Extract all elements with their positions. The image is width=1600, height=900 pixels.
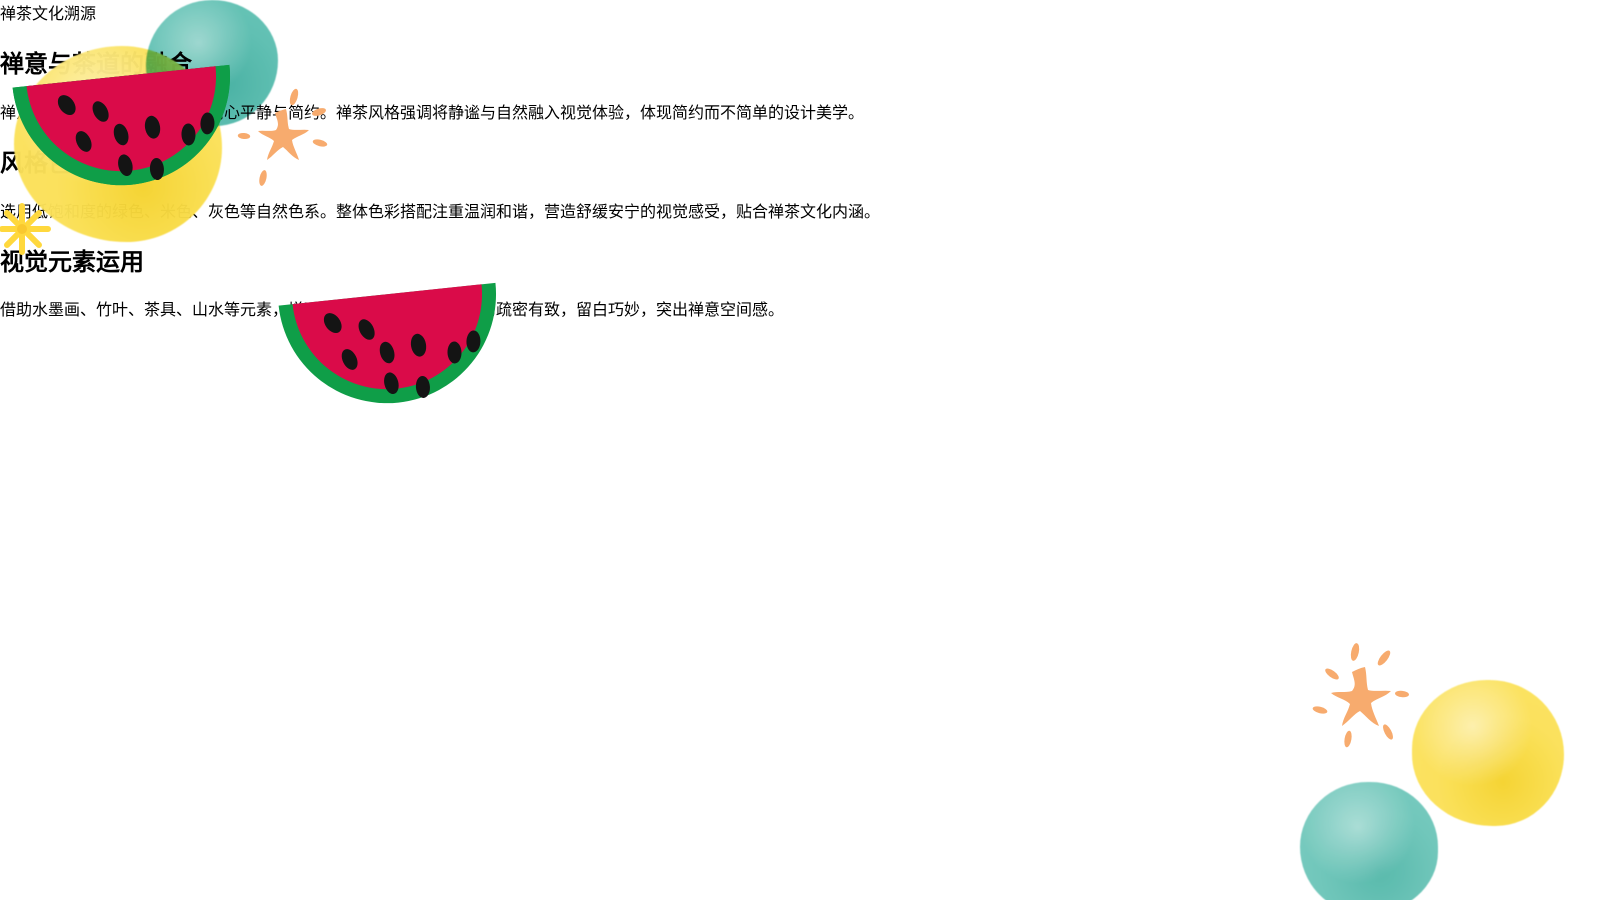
column-body: 选用低饱和度的绿色、米色、灰色等自然色系。整体色彩搭配注重温润和谐，营造舒缓安宁…: [0, 198, 1600, 222]
slide-canvas: 禅茶文化溯源: [0, 0, 1600, 900]
teal-watercolor-blob-bottom-right-icon: [1300, 782, 1438, 900]
content-column-3: 视觉元素运用 借助水墨画、竹叶、茶具、山水等元素，增强传统文化氛围。元素布局疏密…: [0, 242, 1600, 321]
yellow-watercolor-blob-bottom-right-icon: [1412, 680, 1564, 826]
content-column-1: 禅意与茶道的融合 禅意和茶道本源相通，皆追求内心平静与简约。禅茶风格强调将静谧与…: [0, 44, 1600, 123]
content-column-2: 风格色彩选择 选用低饱和度的绿色、米色、灰色等自然色系。整体色彩搭配注重温润和谐…: [0, 143, 1600, 222]
column-body: 禅意和茶道本源相通，皆追求内心平静与简约。禅茶风格强调将静谧与自然融入视觉体验，…: [0, 99, 1600, 123]
column-heading: 风格色彩选择: [0, 143, 1600, 178]
orange-sparkle-bottom-right-icon: [1302, 638, 1412, 748]
column-heading: 禅意与茶道的融合: [0, 44, 1600, 79]
page-title: 禅茶文化溯源: [0, 0, 1600, 24]
column-heading: 视觉元素运用: [0, 242, 1600, 277]
column-body: 借助水墨画、竹叶、茶具、山水等元素，增强传统文化氛围。元素布局疏密有致，留白巧妙…: [0, 296, 1600, 320]
content-columns: 禅意与茶道的融合 禅意和茶道本源相通，皆追求内心平静与简约。禅茶风格强调将静谧与…: [0, 44, 1600, 321]
